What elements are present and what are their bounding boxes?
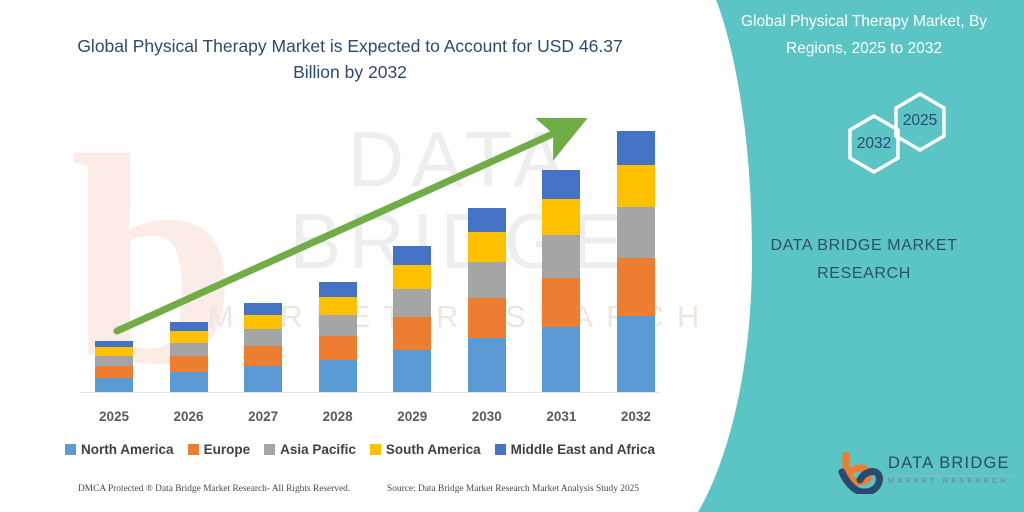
brand-name-line1: DATA BRIDGE MARKET bbox=[718, 232, 1010, 260]
logo-line2: MARKET RESEARCH bbox=[888, 478, 1014, 485]
legend-item-north-america[interactable]: North America bbox=[65, 442, 174, 457]
infographic-root: b DATA BRIDGE MARKET RESEARCH Global Phy… bbox=[0, 0, 1024, 512]
legend-swatch-icon bbox=[495, 444, 506, 455]
legend-item-asia-pacific[interactable]: Asia Pacific bbox=[264, 442, 356, 457]
legend-label: North America bbox=[81, 442, 174, 457]
brand-panel: Global Physical Therapy Market, By Regio… bbox=[660, 0, 1024, 512]
hexagon-2032-label: 2032 bbox=[839, 135, 909, 153]
legend-item-middle-east-and-africa[interactable]: Middle East and Africa bbox=[495, 442, 655, 457]
hexagon-group: 2032 2025 bbox=[718, 88, 1010, 198]
legend-swatch-icon bbox=[264, 444, 275, 455]
brand-panel-title: Global Physical Therapy Market, By Regio… bbox=[718, 8, 1010, 62]
chart-legend: North AmericaEuropeAsia PacificSouth Ame… bbox=[60, 438, 660, 460]
footer-dmca: DMCA Protected ® Data Bridge Market Rese… bbox=[78, 484, 350, 494]
x-tick-2032: 2032 bbox=[617, 409, 655, 424]
growth-arrow bbox=[95, 118, 655, 398]
legend-swatch-icon bbox=[370, 444, 381, 455]
x-tick-2028: 2028 bbox=[319, 409, 357, 424]
hexagon-2025-label: 2025 bbox=[885, 112, 955, 130]
x-tick-2029: 2029 bbox=[393, 409, 431, 424]
x-axis-labels: 20252026202720282029203020312032 bbox=[95, 405, 655, 427]
brand-name-line2: RESEARCH bbox=[718, 260, 1010, 288]
logo-bridge-icon bbox=[838, 452, 886, 494]
legend-swatch-icon bbox=[188, 444, 199, 455]
x-tick-2025: 2025 bbox=[95, 409, 133, 424]
footer-source: Source: Data Bridge Market Research Mark… bbox=[387, 484, 639, 494]
legend-label: Europe bbox=[204, 442, 251, 457]
legend-label: South America bbox=[386, 442, 481, 457]
footer: DMCA Protected ® Data Bridge Market Rese… bbox=[0, 484, 700, 502]
chart-title: Global Physical Therapy Market is Expect… bbox=[60, 33, 640, 85]
growth-arrow-svg bbox=[95, 118, 655, 398]
legend-item-europe[interactable]: Europe bbox=[188, 442, 251, 457]
x-tick-2030: 2030 bbox=[468, 409, 506, 424]
x-tick-2026: 2026 bbox=[170, 409, 208, 424]
logo-line1: DATA BRIDGE bbox=[888, 454, 1014, 473]
x-tick-2027: 2027 bbox=[244, 409, 282, 424]
company-logo: DATA BRIDGE MARKET RESEARCH bbox=[838, 452, 1016, 494]
legend-item-south-america[interactable]: South America bbox=[370, 442, 481, 457]
legend-label: Asia Pacific bbox=[280, 442, 356, 457]
logo-text: DATA BRIDGE MARKET RESEARCH bbox=[888, 454, 1014, 485]
chart-panel: Global Physical Therapy Market is Expect… bbox=[0, 0, 720, 512]
legend-label: Middle East and Africa bbox=[511, 442, 655, 457]
legend-swatch-icon bbox=[65, 444, 76, 455]
x-tick-2031: 2031 bbox=[542, 409, 580, 424]
brand-panel-name: DATA BRIDGE MARKET RESEARCH bbox=[718, 232, 1010, 288]
logo-divider bbox=[888, 475, 1014, 476]
